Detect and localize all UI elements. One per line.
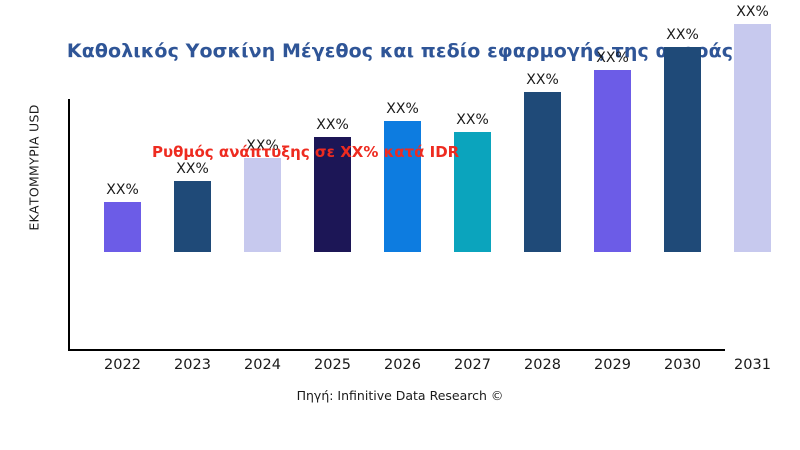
bar-2024[interactable] xyxy=(244,158,281,252)
bar-2028[interactable] xyxy=(524,92,561,252)
plot-area: XX%XX%XX%XX%XX%XX%XX%XX%XX%XX% xyxy=(0,0,800,351)
x-tick-2026: 2026 xyxy=(373,357,433,373)
bar-group-2024: XX% xyxy=(244,158,281,252)
bar-group-2026: XX% xyxy=(384,121,421,252)
bar-value-label: XX% xyxy=(666,27,698,43)
bar-value-label: XX% xyxy=(386,101,418,117)
bar-value-label: XX% xyxy=(176,161,208,177)
bar-2026[interactable] xyxy=(384,121,421,252)
bar-value-label: XX% xyxy=(106,182,138,198)
bar-2022[interactable] xyxy=(104,202,141,252)
x-tick-2024: 2024 xyxy=(233,357,293,373)
x-tick-2023: 2023 xyxy=(163,357,223,373)
x-axis-tick-labels: 2022202320242025202620272028202920302031 xyxy=(0,357,800,381)
source-caption: Πηγή: Infinitive Data Research © xyxy=(0,388,800,403)
bar-2031[interactable] xyxy=(734,24,771,252)
bar-value-label: XX% xyxy=(316,117,348,133)
bar-value-label: XX% xyxy=(526,72,558,88)
x-tick-2031: 2031 xyxy=(723,357,783,373)
x-tick-2029: 2029 xyxy=(583,357,643,373)
bar-group-2023: XX% xyxy=(174,181,211,252)
bar-group-2030: XX% xyxy=(664,47,701,252)
bar-2029[interactable] xyxy=(594,70,631,252)
x-tick-2027: 2027 xyxy=(443,357,503,373)
x-tick-2028: 2028 xyxy=(513,357,573,373)
bar-2023[interactable] xyxy=(174,181,211,252)
bar-2027[interactable] xyxy=(454,132,491,252)
bar-group-2022: XX% xyxy=(104,202,141,252)
x-tick-2030: 2030 xyxy=(653,357,713,373)
bar-2030[interactable] xyxy=(664,47,701,252)
bar-value-label: XX% xyxy=(456,112,488,128)
chart-screenshot: Καθολικός Υοσκίνη Μέγεθος και πεδίο εφαρ… xyxy=(0,0,800,450)
bar-group-2029: XX% xyxy=(594,70,631,252)
x-tick-2025: 2025 xyxy=(303,357,363,373)
growth-rate-annotation: Ρυθμός ανάπτυξης σε XX% κατά IDR xyxy=(152,143,459,161)
bar-group-2028: XX% xyxy=(524,92,561,252)
x-tick-2022: 2022 xyxy=(93,357,153,373)
bar-group-2031: XX% xyxy=(734,24,771,252)
bar-value-label: XX% xyxy=(596,50,628,66)
bar-group-2027: XX% xyxy=(454,132,491,252)
bar-value-label: XX% xyxy=(736,4,768,20)
